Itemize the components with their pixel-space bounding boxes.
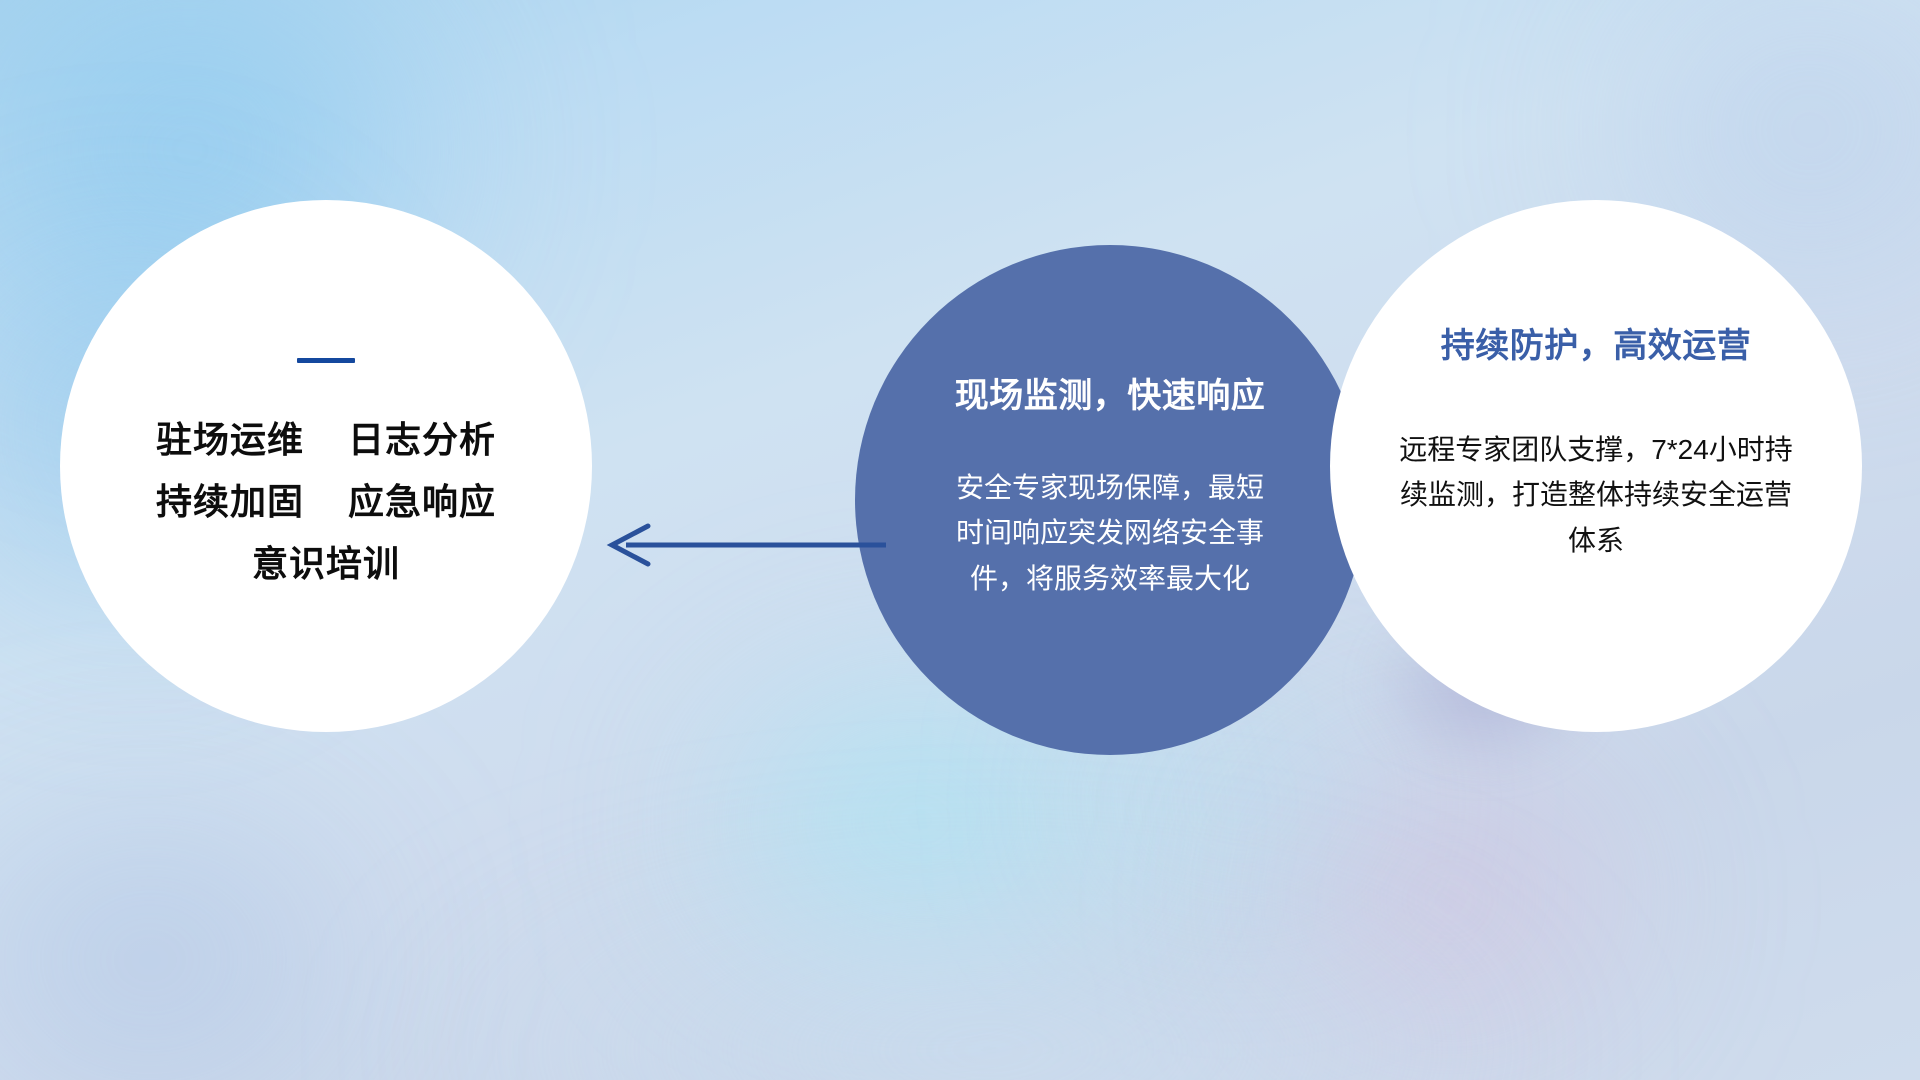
onsite-monitoring-body: 安全专家现场保障，最短时间响应突发网络安全事件，将服务效率最大化: [952, 465, 1268, 601]
continuous-protection-title: 持续防护，高效运营: [1441, 318, 1752, 367]
capability-line-2: 持续加固 应急响应: [156, 471, 496, 533]
onsite-monitoring-circle[interactable]: 现场监测，快速响应 安全专家现场保障，最短时间响应突发网络安全事件，将服务效率最…: [855, 245, 1365, 755]
flow-arrow-left-icon: [600, 512, 890, 578]
onsite-monitoring-title: 现场监测，快速响应: [955, 368, 1266, 417]
continuous-protection-circle[interactable]: 持续防护，高效运营 远程专家团队支撑，7*24小时持续监测，打造整体持续安全运营…: [1330, 200, 1862, 732]
continuous-protection-body: 远程专家团队支撑，7*24小时持续监测，打造整体持续安全运营体系: [1397, 427, 1795, 563]
divider-dash-icon: [297, 358, 355, 363]
slide-canvas: 驻场运维 日志分析 持续加固 应急响应 意识培训 现场监测，快速响应 安全专家现…: [0, 0, 1920, 1080]
capability-line-3: 意识培训: [156, 533, 496, 595]
left-capabilities-circle[interactable]: 驻场运维 日志分析 持续加固 应急响应 意识培训: [60, 200, 592, 732]
capability-line-1: 驻场运维 日志分析: [156, 409, 496, 471]
capability-list: 驻场运维 日志分析 持续加固 应急响应 意识培训: [156, 409, 496, 595]
